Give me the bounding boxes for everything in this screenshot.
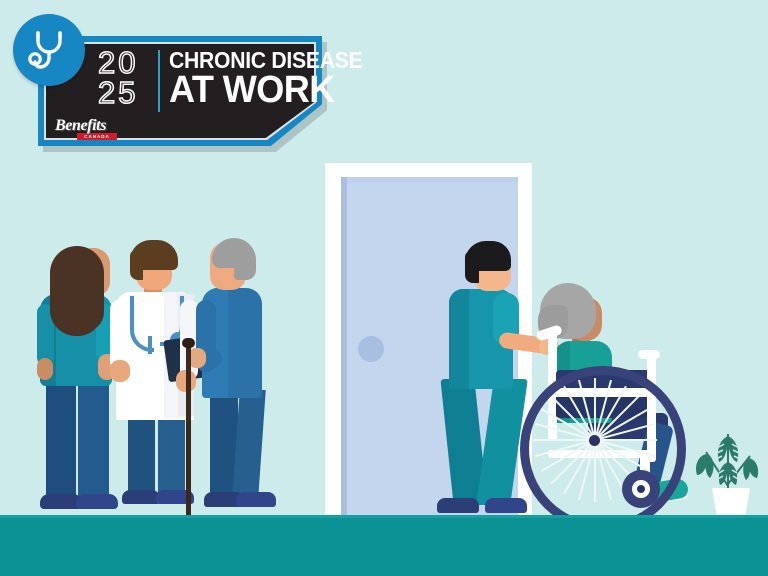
wheelchair-back-cap bbox=[548, 330, 557, 339]
wheelchair-hub bbox=[589, 435, 600, 446]
doctor-with-tablet bbox=[108, 240, 206, 518]
doctor-shoe-left bbox=[122, 490, 160, 504]
badge-year-bottom: 25 bbox=[98, 78, 154, 108]
woman-leg-left bbox=[46, 374, 76, 500]
wheelchair-armrest bbox=[638, 350, 660, 359]
woman-hand-left bbox=[37, 358, 53, 380]
benefits-canada-logo[interactable]: Benefits CANADA bbox=[55, 118, 117, 140]
door-knob-icon[interactable] bbox=[358, 336, 384, 362]
woman-hair-back bbox=[50, 290, 102, 336]
walking-cane-handle bbox=[182, 338, 195, 348]
stethoscope-glyph bbox=[13, 14, 85, 86]
wheelchair bbox=[520, 330, 700, 525]
badge-divider bbox=[158, 50, 160, 112]
wheelchair-main-wheel bbox=[520, 366, 686, 532]
badge-year-top: 20 bbox=[98, 48, 154, 78]
chronic-disease-at-work-badge: 20 25 CHRONIC DISEASE AT WORK Benefits C… bbox=[38, 36, 322, 146]
stethoscope-icon bbox=[13, 14, 85, 86]
elderly-man-with-cane bbox=[196, 238, 268, 518]
doctor-hand-left bbox=[110, 360, 130, 382]
woman-leg-right bbox=[78, 374, 109, 500]
brand-wordmark: Benefits bbox=[55, 118, 117, 134]
stethoscope-tube-center bbox=[148, 336, 152, 354]
nurse-scrub-shadow bbox=[449, 289, 469, 389]
illustration-scene: 20 25 CHRONIC DISEASE AT WORK Benefits C… bbox=[0, 0, 768, 576]
wheelchair-caster-center bbox=[637, 485, 645, 493]
elder-hair-back bbox=[234, 254, 256, 280]
floor-band bbox=[0, 518, 768, 576]
nurse-hair-side bbox=[465, 251, 479, 283]
doctor-hair-side bbox=[130, 250, 143, 280]
door-edge-shadow bbox=[341, 177, 347, 518]
badge-title-line2: AT WORK bbox=[169, 71, 335, 109]
nurse-shoe-left bbox=[437, 498, 479, 513]
potted-monstera-plant bbox=[692, 426, 764, 518]
walking-cane bbox=[186, 341, 191, 518]
elder-shoe-right bbox=[236, 492, 276, 507]
brand-subtitle-bar: CANADA bbox=[77, 133, 117, 140]
badge-year: 20 25 bbox=[98, 48, 154, 108]
